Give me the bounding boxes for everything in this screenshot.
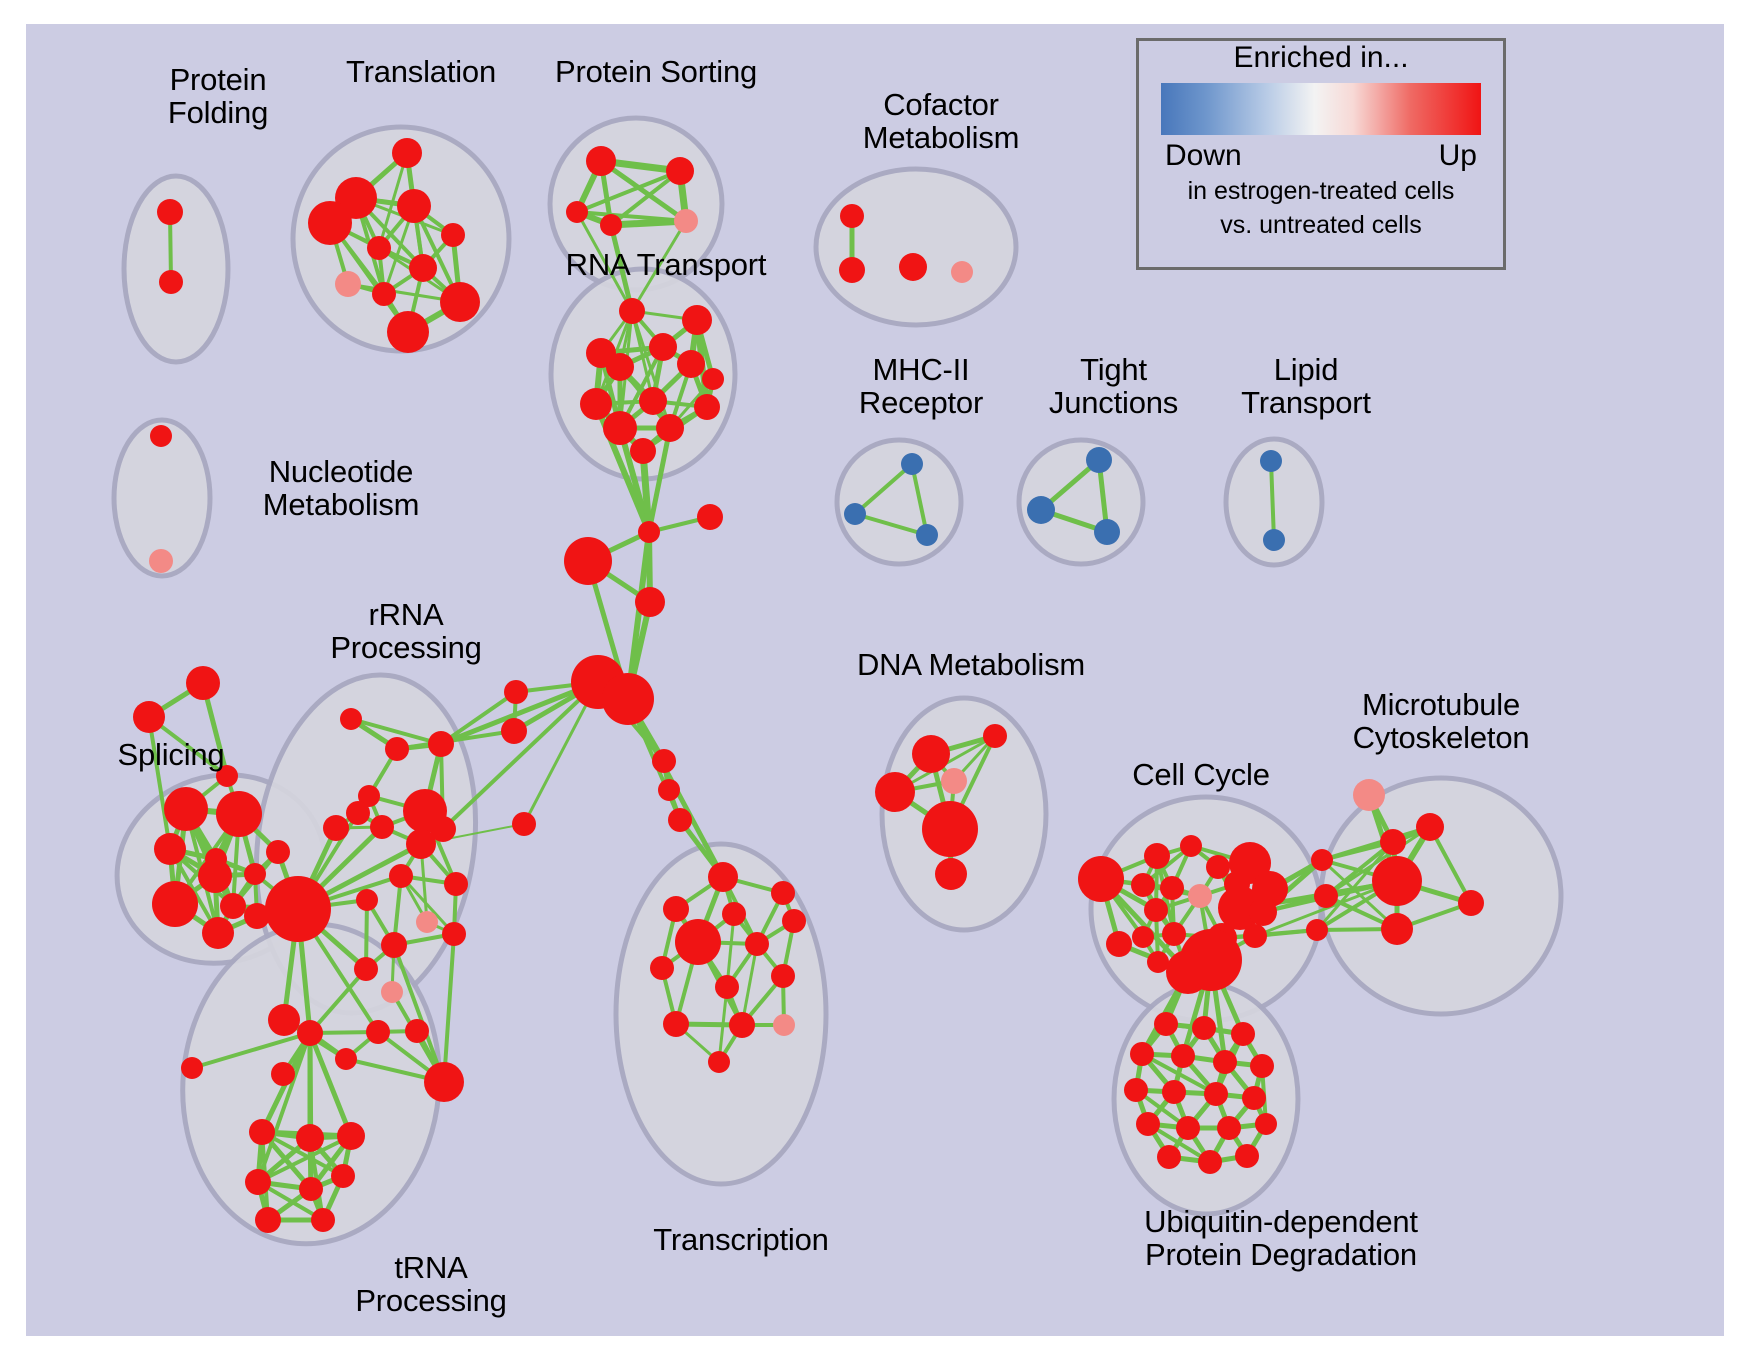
node-protein-sorting-2 [566, 201, 588, 223]
node-translation-5 [367, 236, 391, 260]
legend-caption-line2: vs. untreated cells [1139, 211, 1503, 241]
node-trna-processing-4 [299, 1177, 323, 1201]
node-cofactor-metabolism-2 [899, 253, 927, 281]
node-rna-transport-8 [639, 387, 667, 415]
node-rna-transport-11 [656, 414, 684, 442]
node-cofactor-metabolism-1 [839, 257, 865, 283]
node-transcription-2 [663, 896, 689, 922]
node-rrna-processing-7 [265, 876, 331, 942]
node-ubiquitin-protein-degradation-1 [1192, 1016, 1216, 1040]
node-microtubule-cytoskeleton-8 [1381, 913, 1413, 945]
node-rrna-processing-25 [268, 1004, 300, 1036]
node-splicing-9 [202, 917, 234, 949]
cluster-label-microtubule-cytoskeleton: Microtubule Cytoskeleton [1296, 689, 1586, 755]
cluster-label-nucleotide-metabolism: Nucleotide Metabolism [216, 456, 466, 522]
legend-low-label: Down [1165, 139, 1242, 173]
node-protein-sorting-0 [586, 146, 616, 176]
node-cell-cycle-12 [1249, 898, 1277, 926]
node-transcription-0 [708, 862, 738, 892]
node-transcription-6 [745, 932, 769, 956]
node-rrna-processing-3 [389, 864, 413, 888]
node-b0 [638, 521, 660, 543]
node-mhc-ii-receptor-0 [901, 453, 923, 475]
node-cell-cycle-14 [1162, 922, 1186, 946]
node-rrna-processing-17 [416, 911, 438, 933]
node-transcription-11 [729, 1012, 755, 1038]
cluster-label-lipid-transport: Lipid Transport [1201, 354, 1411, 420]
node-rrna-processing-8 [346, 801, 370, 825]
node-rrna-processing-22 [271, 1062, 295, 1086]
node-b8 [652, 749, 676, 773]
node-trna-processing-1 [296, 1124, 324, 1152]
cluster-label-protein-sorting: Protein Sorting [496, 56, 816, 89]
node-rrna-processing-9 [370, 815, 394, 839]
node-cell-cycle-4 [1078, 856, 1124, 902]
node-rna-transport-4 [677, 350, 705, 378]
cluster-hull-mhc-ii-receptor [837, 440, 961, 564]
node-trna-processing-8 [181, 1057, 203, 1079]
node-cell-cycle-2 [1206, 855, 1230, 879]
legend-endpoints: Down Up [1139, 137, 1503, 173]
node-splicing-8 [220, 893, 246, 919]
legend-gradient-bar [1161, 83, 1481, 135]
node-sp-out1 [186, 666, 220, 700]
node-translation-8 [372, 282, 396, 306]
node-nm0 [150, 425, 172, 447]
node-ubiquitin-protein-degradation-8 [1162, 1080, 1186, 1104]
node-microtubule-cytoskeleton-5 [1372, 856, 1422, 906]
node-transcription-7 [650, 956, 674, 980]
node-microtubule-cytoskeleton-1 [1416, 813, 1444, 841]
node-protein-sorting-1 [666, 157, 694, 185]
node-rna-transport-0 [619, 298, 645, 324]
node-microtubule-cytoskeleton-3 [1311, 849, 1333, 871]
node-ubiquitin-protein-degradation-10 [1242, 1086, 1266, 1110]
node-nm1 [149, 549, 173, 573]
node-dna-metabolism-2 [875, 772, 915, 812]
node-b7 [501, 718, 527, 744]
node-rrna-processing-20 [335, 1048, 357, 1070]
node-ubiquitin-protein-degradation-3 [1130, 1042, 1154, 1066]
node-lipid-transport-1 [1263, 529, 1285, 551]
node-splicing-6 [244, 863, 266, 885]
node-sp-out0 [133, 701, 165, 733]
node-splicing-0 [164, 787, 208, 831]
node-rrna-processing-2 [428, 731, 454, 757]
node-lipid-transport-0 [1260, 450, 1282, 472]
node-rrna-processing-1 [385, 737, 409, 761]
node-b1 [697, 504, 723, 530]
node-b2 [564, 537, 612, 585]
node-rrna-processing-19 [297, 1020, 323, 1046]
node-translation-7 [335, 271, 361, 297]
node-trna-processing-5 [331, 1164, 355, 1188]
node-ubiquitin-protein-degradation-0 [1154, 1012, 1178, 1036]
node-transcription-12 [773, 1014, 795, 1036]
node-rrna-processing-15 [381, 981, 403, 1003]
node-dna-metabolism-3 [941, 768, 967, 794]
node-translation-2 [397, 189, 431, 223]
node-rna-transport-7 [580, 388, 612, 420]
node-ubiquitin-protein-degradation-16 [1198, 1150, 1222, 1174]
edge [310, 1033, 311, 1189]
node-rrna-processing-13 [381, 932, 407, 958]
node-transcription-3 [722, 902, 746, 926]
node-b5 [602, 673, 654, 725]
legend-panel: Enriched in... Down Up in estrogen-treat… [1136, 38, 1506, 270]
node-rrna-processing-14 [444, 872, 468, 896]
node-rrna-processing-16 [442, 922, 466, 946]
cluster-label-mhc-ii-receptor: MHC-II Receptor [816, 354, 1026, 420]
legend-title: Enriched in... [1139, 41, 1503, 75]
node-cofactor-metabolism-3 [951, 261, 973, 283]
node-cell-cycle-9 [1188, 884, 1212, 908]
node-rrna-processing-23 [366, 1020, 390, 1044]
node-transcription-9 [715, 975, 739, 999]
node-microtubule-cytoskeleton-6 [1306, 919, 1328, 941]
cluster-label-trna-processing: tRNA Processing [316, 1252, 546, 1318]
node-b3 [635, 587, 665, 617]
node-protein-sorting-3 [600, 214, 622, 236]
cluster-label-rna-transport: RNA Transport [506, 249, 826, 282]
node-rna-transport-5 [606, 353, 634, 381]
node-splicing-2 [154, 833, 186, 865]
node-cell-cycle-10 [1144, 898, 1168, 922]
node-protein-folding-1 [159, 270, 183, 294]
legend-caption-line1: in estrogen-treated cells [1139, 177, 1503, 207]
node-trna-processing-7 [311, 1208, 335, 1232]
node-rrna-processing-11 [430, 816, 456, 842]
node-microtubule-cytoskeleton-2 [1380, 829, 1406, 855]
node-rrna-processing-12 [323, 815, 349, 841]
node-dna-metabolism-1 [983, 724, 1007, 748]
node-mhc-ii-receptor-1 [844, 503, 866, 525]
node-ubiquitin-protein-degradation-9 [1204, 1082, 1228, 1106]
node-cell-cycle-0 [1180, 835, 1202, 857]
node-translation-4 [441, 223, 465, 247]
node-cell-cycle-19 [1166, 950, 1210, 994]
node-ubiquitin-protein-degradation-15 [1157, 1145, 1181, 1169]
node-ubiquitin-protein-degradation-11 [1136, 1112, 1160, 1136]
node-ubiquitin-protein-degradation-7 [1124, 1078, 1148, 1102]
node-cell-cycle-13 [1132, 926, 1154, 948]
node-rrna-processing-6 [356, 889, 378, 911]
legend-high-label: Up [1439, 139, 1477, 173]
node-b6 [504, 680, 528, 704]
edge [444, 934, 454, 1082]
node-rrna-processing-24 [405, 1019, 429, 1043]
cluster-label-splicing: Splicing [71, 739, 271, 772]
node-rrna-processing-21 [424, 1062, 464, 1102]
node-translation-9 [440, 282, 480, 322]
node-b9 [658, 779, 680, 801]
node-ubiquitin-protein-degradation-4 [1171, 1044, 1195, 1068]
cluster-label-tight-junctions: Tight Junctions [1011, 354, 1216, 420]
node-ubiquitin-protein-degradation-5 [1213, 1050, 1237, 1074]
node-cell-cycle-20 [1243, 924, 1267, 948]
node-rrna-processing-18 [354, 957, 378, 981]
node-ubiquitin-protein-degradation-12 [1176, 1116, 1200, 1140]
node-transcription-5 [675, 919, 721, 965]
node-tight-junctions-1 [1027, 496, 1055, 524]
node-splicing-1 [216, 791, 262, 837]
node-translation-6 [409, 254, 437, 282]
node-b10 [668, 808, 692, 832]
cluster-label-ubiquitin-protein-degradation: Ubiquitin-dependent Protein Degradation [1081, 1206, 1481, 1272]
node-translation-3 [308, 201, 352, 245]
node-splicing-7 [152, 881, 198, 927]
node-transcription-10 [663, 1011, 689, 1037]
node-trna-processing-6 [255, 1207, 281, 1233]
node-b11 [512, 812, 536, 836]
node-transcription-13 [708, 1051, 730, 1073]
node-translation-0 [392, 138, 422, 168]
node-microtubule-cytoskeleton-7 [1458, 890, 1484, 916]
node-cell-cycle-5 [1131, 873, 1155, 897]
node-cofactor-metabolism-0 [840, 204, 864, 228]
node-ubiquitin-protein-degradation-2 [1231, 1022, 1255, 1046]
node-cell-cycle-1 [1144, 843, 1170, 869]
cluster-label-cell-cycle: Cell Cycle [1086, 759, 1316, 792]
node-ubiquitin-protein-degradation-14 [1255, 1113, 1277, 1135]
node-microtubule-cytoskeleton-4 [1314, 884, 1338, 908]
node-trna-processing-3 [245, 1169, 271, 1195]
node-tight-junctions-0 [1086, 447, 1112, 473]
cluster-hull-cofactor-metabolism [816, 169, 1016, 325]
node-rna-transport-6 [702, 368, 724, 390]
node-rna-transport-1 [682, 305, 712, 335]
node-dna-metabolism-5 [935, 858, 967, 890]
node-splicing-5 [198, 859, 232, 893]
node-transcription-1 [771, 881, 795, 905]
node-ubiquitin-protein-degradation-6 [1250, 1054, 1274, 1078]
cluster-label-dna-metabolism: DNA Metabolism [806, 649, 1136, 682]
node-tight-junctions-2 [1094, 519, 1120, 545]
node-rna-transport-10 [603, 411, 637, 445]
node-protein-sorting-4 [674, 209, 698, 233]
node-cell-cycle-17 [1106, 931, 1132, 957]
node-rna-transport-12 [630, 438, 656, 464]
node-protein-folding-0 [157, 199, 183, 225]
cluster-label-rrna-processing: rRNA Processing [291, 599, 521, 665]
node-transcription-8 [771, 964, 795, 988]
node-splicing-4 [266, 840, 290, 864]
node-translation-10 [387, 311, 429, 353]
cluster-label-cofactor-metabolism: Cofactor Metabolism [816, 89, 1066, 155]
node-trna-processing-2 [337, 1122, 365, 1150]
node-transcription-4 [782, 909, 806, 933]
cluster-label-transcription: Transcription [601, 1224, 881, 1257]
node-cell-cycle-16 [1147, 951, 1169, 973]
node-mhc-ii-receptor-2 [916, 524, 938, 546]
node-rna-transport-9 [694, 394, 720, 420]
node-cell-cycle-6 [1160, 876, 1184, 900]
node-dna-metabolism-0 [912, 735, 950, 773]
figure-stage: Protein FoldingTranslationProtein Sortin… [0, 0, 1750, 1360]
node-rna-transport-2 [649, 333, 677, 361]
node-rrna-processing-0 [340, 708, 362, 730]
node-ubiquitin-protein-degradation-17 [1235, 1144, 1259, 1168]
network-diagram-canvas: Protein FoldingTranslationProtein Sortin… [26, 24, 1724, 1336]
node-ubiquitin-protein-degradation-13 [1217, 1116, 1241, 1140]
node-dna-metabolism-4 [922, 801, 978, 857]
node-trna-processing-0 [249, 1119, 275, 1145]
node-microtubule-cytoskeleton-0 [1353, 779, 1385, 811]
